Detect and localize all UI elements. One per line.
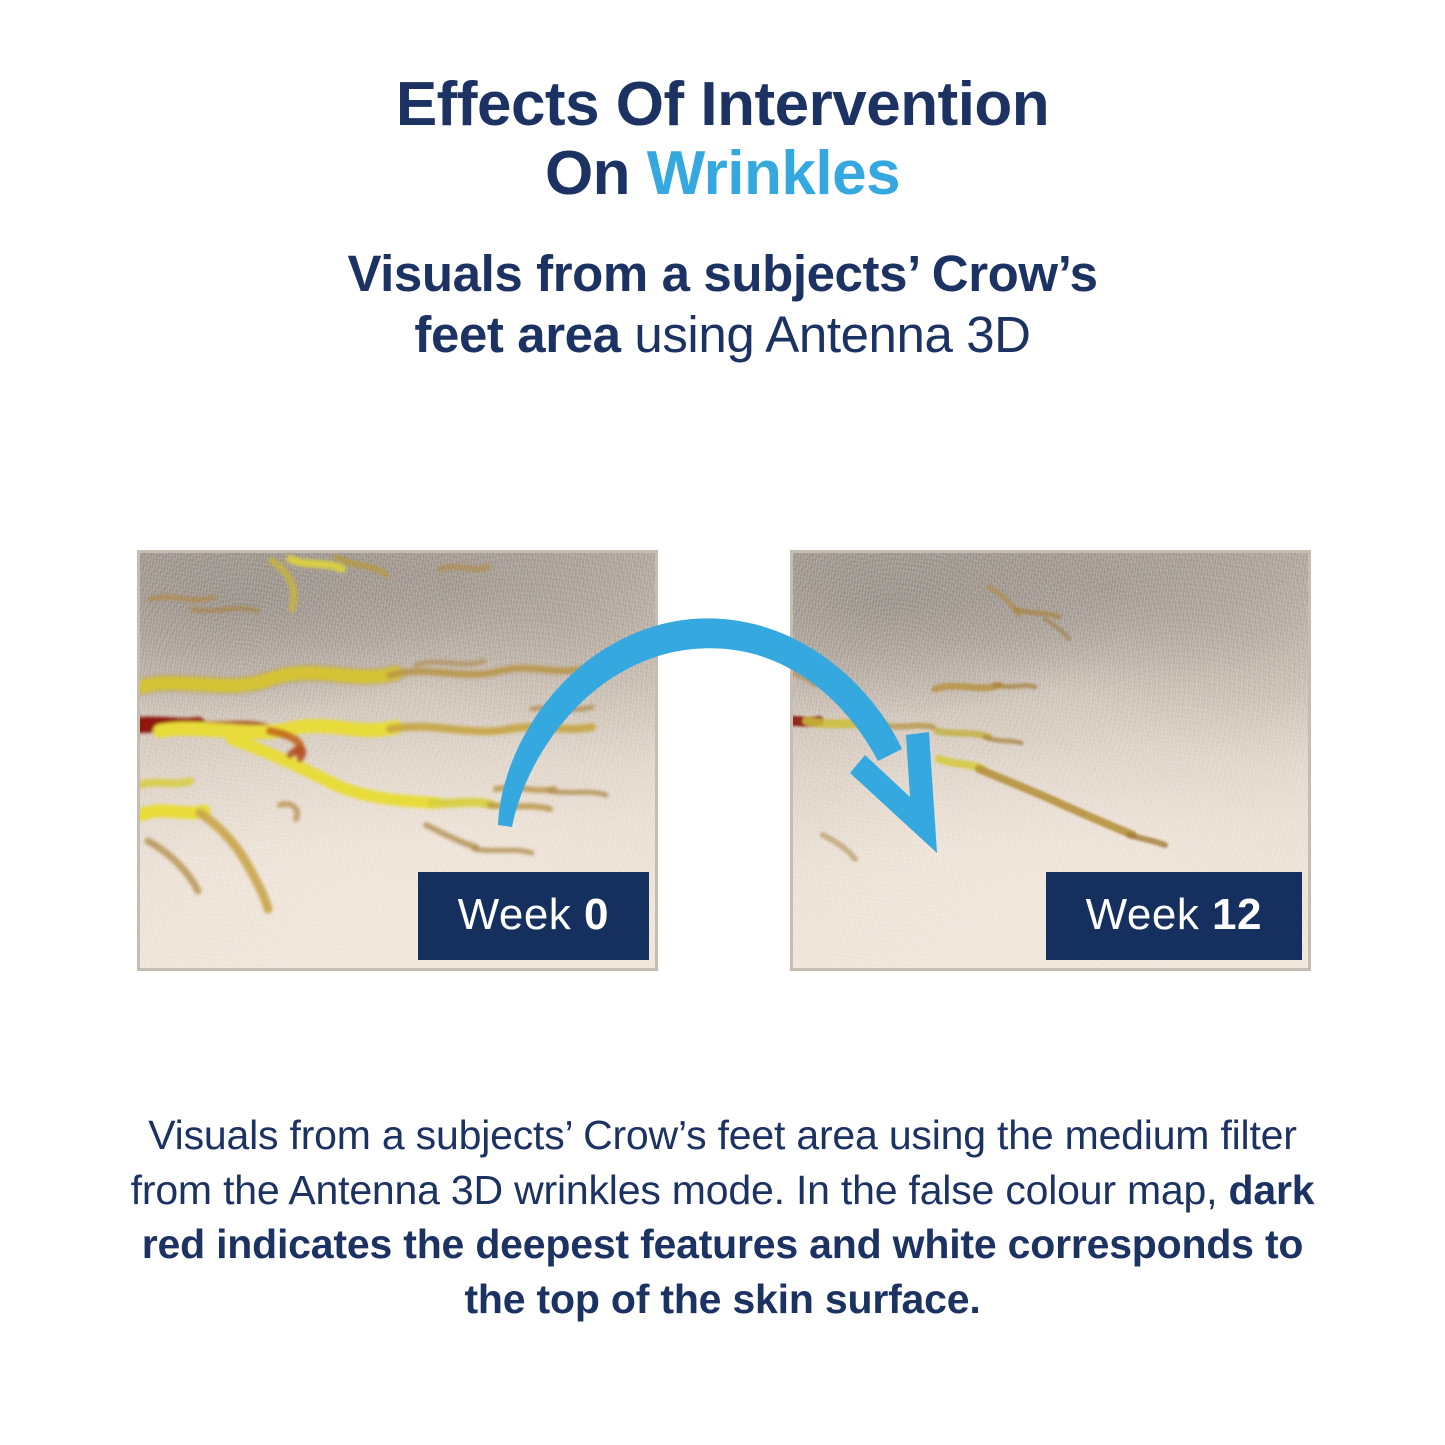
subtitle-line-1: Visuals from a subjects’ Crow’s xyxy=(0,243,1445,304)
image-panel-week12: Week 12 xyxy=(793,553,1308,968)
heading-block: Effects Of Intervention On Wrinkles Visu… xyxy=(0,70,1445,365)
image-panel-week0: Week 0 xyxy=(140,553,655,968)
subtitle-line-1-bold: Visuals from a subjects’ Crow’s xyxy=(347,245,1097,302)
week-badge-week12: Week 12 xyxy=(1046,872,1302,960)
page-subtitle: Visuals from a subjects’ Crow’s feet are… xyxy=(0,243,1445,365)
subtitle-line-2-regular: using Antenna 3D xyxy=(621,306,1031,363)
figure-caption: Visuals from a subjects’ Crow’s feet are… xyxy=(130,1108,1315,1326)
week-badge-week0: Week 0 xyxy=(418,872,649,960)
title-line-2: On Wrinkles xyxy=(0,139,1445,208)
infographic-page: Effects Of Intervention On Wrinkles Visu… xyxy=(0,0,1445,1445)
page-title: Effects Of Intervention On Wrinkles xyxy=(0,70,1445,209)
week-badge-value: 12 xyxy=(1212,890,1262,939)
title-accent-wrinkles: Wrinkles xyxy=(647,139,900,208)
caption-part-1: Visuals from a subjects’ Crow’s feet are… xyxy=(131,1112,1297,1213)
week-badge-label: Week xyxy=(1086,890,1212,939)
title-line-2-prefix: On xyxy=(545,139,647,208)
title-line-1: Effects Of Intervention xyxy=(0,70,1445,139)
week-badge-label: Week xyxy=(458,890,584,939)
subtitle-line-2-bold: feet area xyxy=(414,306,620,363)
week-badge-value: 0 xyxy=(584,890,609,939)
subtitle-line-2: feet area using Antenna 3D xyxy=(0,304,1445,365)
